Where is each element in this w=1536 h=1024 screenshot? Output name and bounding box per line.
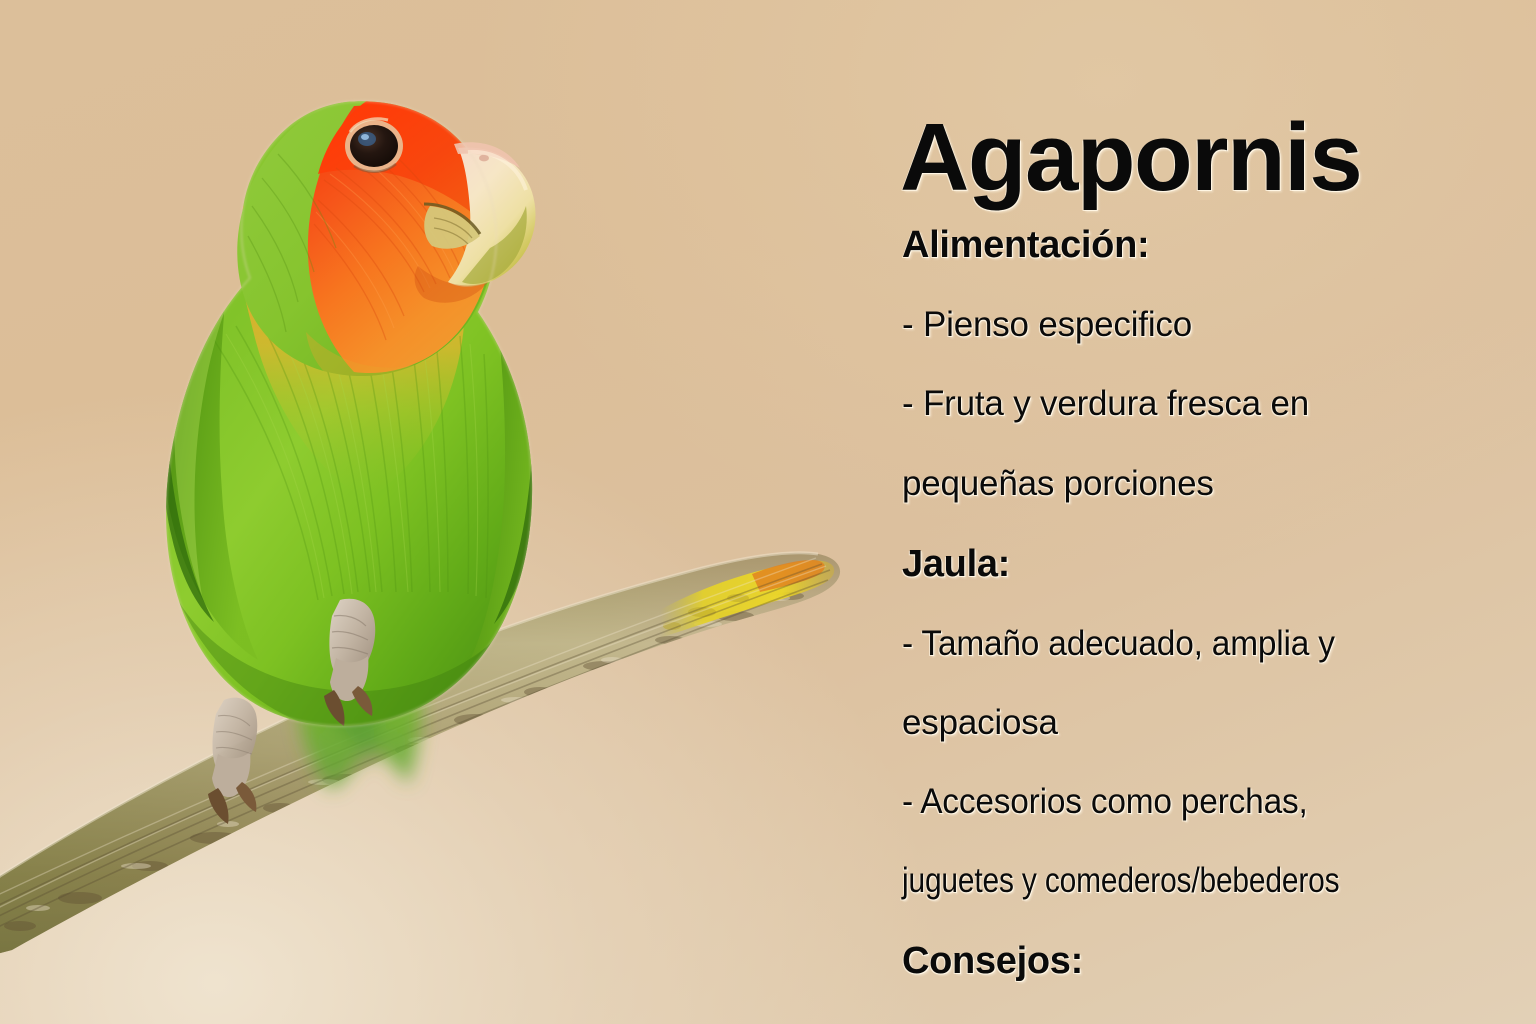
poster-canvas: Agapornis Alimentación: - Pienso especif… (0, 0, 1536, 1024)
list-item: - Regla de oro: no mantenererlo (902, 1020, 1498, 1024)
list-item: pequeñas porciones (902, 462, 1526, 506)
section-heading-jaula: Jaula: (902, 541, 1526, 587)
info-panel: Agapornis Alimentación: - Pienso especif… (896, 0, 1530, 1024)
lichen-orange-patch (752, 560, 825, 592)
list-item: espaciosa (902, 701, 1526, 745)
page-title: Agapornis (900, 110, 1361, 206)
lovebird-photo (0, 0, 880, 1024)
section-lines-alimentacion: - Pienso especifico - Fruta y verdura fr… (902, 303, 1526, 505)
list-item: juguetes y comederos/bebederos (902, 859, 1436, 903)
section-heading-consejos: Consejos: (902, 938, 1526, 984)
foot-back (208, 698, 257, 824)
list-item: - Fruta y verdura fresca en (902, 382, 1526, 426)
section-lines-consejos: - Regla de oro: no mantenererlo en soled… (902, 1020, 1526, 1024)
list-item: - Pienso especifico (902, 303, 1526, 347)
care-sections: Alimentación: - Pienso especifico - Frut… (902, 222, 1526, 1024)
section-consejos: Consejos: - Regla de oro: no mantenererl… (902, 938, 1526, 1024)
list-item: - Tamaño adecuado, amplia y (902, 622, 1498, 666)
section-alimentacion: Alimentación: - Pienso especifico - Frut… (902, 222, 1526, 506)
lichen-patch (660, 560, 834, 638)
list-item: - Accesorios como perchas, (902, 780, 1498, 824)
section-jaula: Jaula: - Tamaño adecuado, amplia y espac… (902, 541, 1526, 904)
section-lines-jaula: - Tamaño adecuado, amplia y espaciosa - … (902, 622, 1526, 903)
lovebird-figure (118, 40, 588, 840)
section-heading-alimentacion: Alimentación: (902, 222, 1526, 268)
